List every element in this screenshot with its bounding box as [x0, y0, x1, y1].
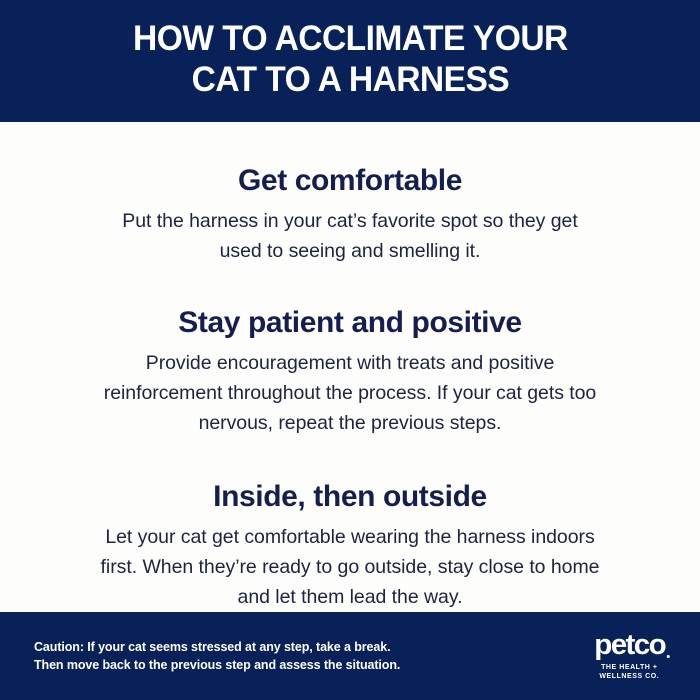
petco-logo: petco THE HEALTH + WELLNESS CO.	[595, 631, 664, 681]
petco-wordmark: petco	[594, 631, 665, 660]
tip-heading: Get comfortable	[42, 164, 658, 198]
tip-body: Provide encouragement with treats and po…	[42, 348, 658, 438]
tip-heading: Stay patient and positive	[42, 306, 658, 340]
tip-body: Put the harness in your cat’s favorite s…	[42, 206, 658, 266]
footer-banner: Caution: If your cat seems stressed at a…	[0, 612, 700, 700]
header-banner: HOW TO ACCLIMATE YOUR CAT TO A HARNESS	[0, 0, 700, 122]
infographic-card: HOW TO ACCLIMATE YOUR CAT TO A HARNESS G…	[0, 0, 700, 700]
page-title: HOW TO ACCLIMATE YOUR CAT TO A HARNESS	[133, 18, 568, 101]
tip-section-inside-then-outside: Inside, then outside Let your cat get co…	[0, 480, 700, 612]
tip-section-get-comfortable: Get comfortable Put the harness in your …	[0, 164, 700, 266]
petco-tagline: THE HEALTH + WELLNESS CO.	[599, 663, 659, 681]
caution-note: Caution: If your cat seems stressed at a…	[34, 638, 400, 674]
tip-section-stay-patient-and-positive: Stay patient and positive Provide encour…	[0, 306, 700, 438]
tip-body: Let your cat get comfortable wearing the…	[42, 522, 658, 612]
content-area: Get comfortable Put the harness in your …	[0, 122, 700, 612]
tip-heading: Inside, then outside	[42, 480, 658, 514]
